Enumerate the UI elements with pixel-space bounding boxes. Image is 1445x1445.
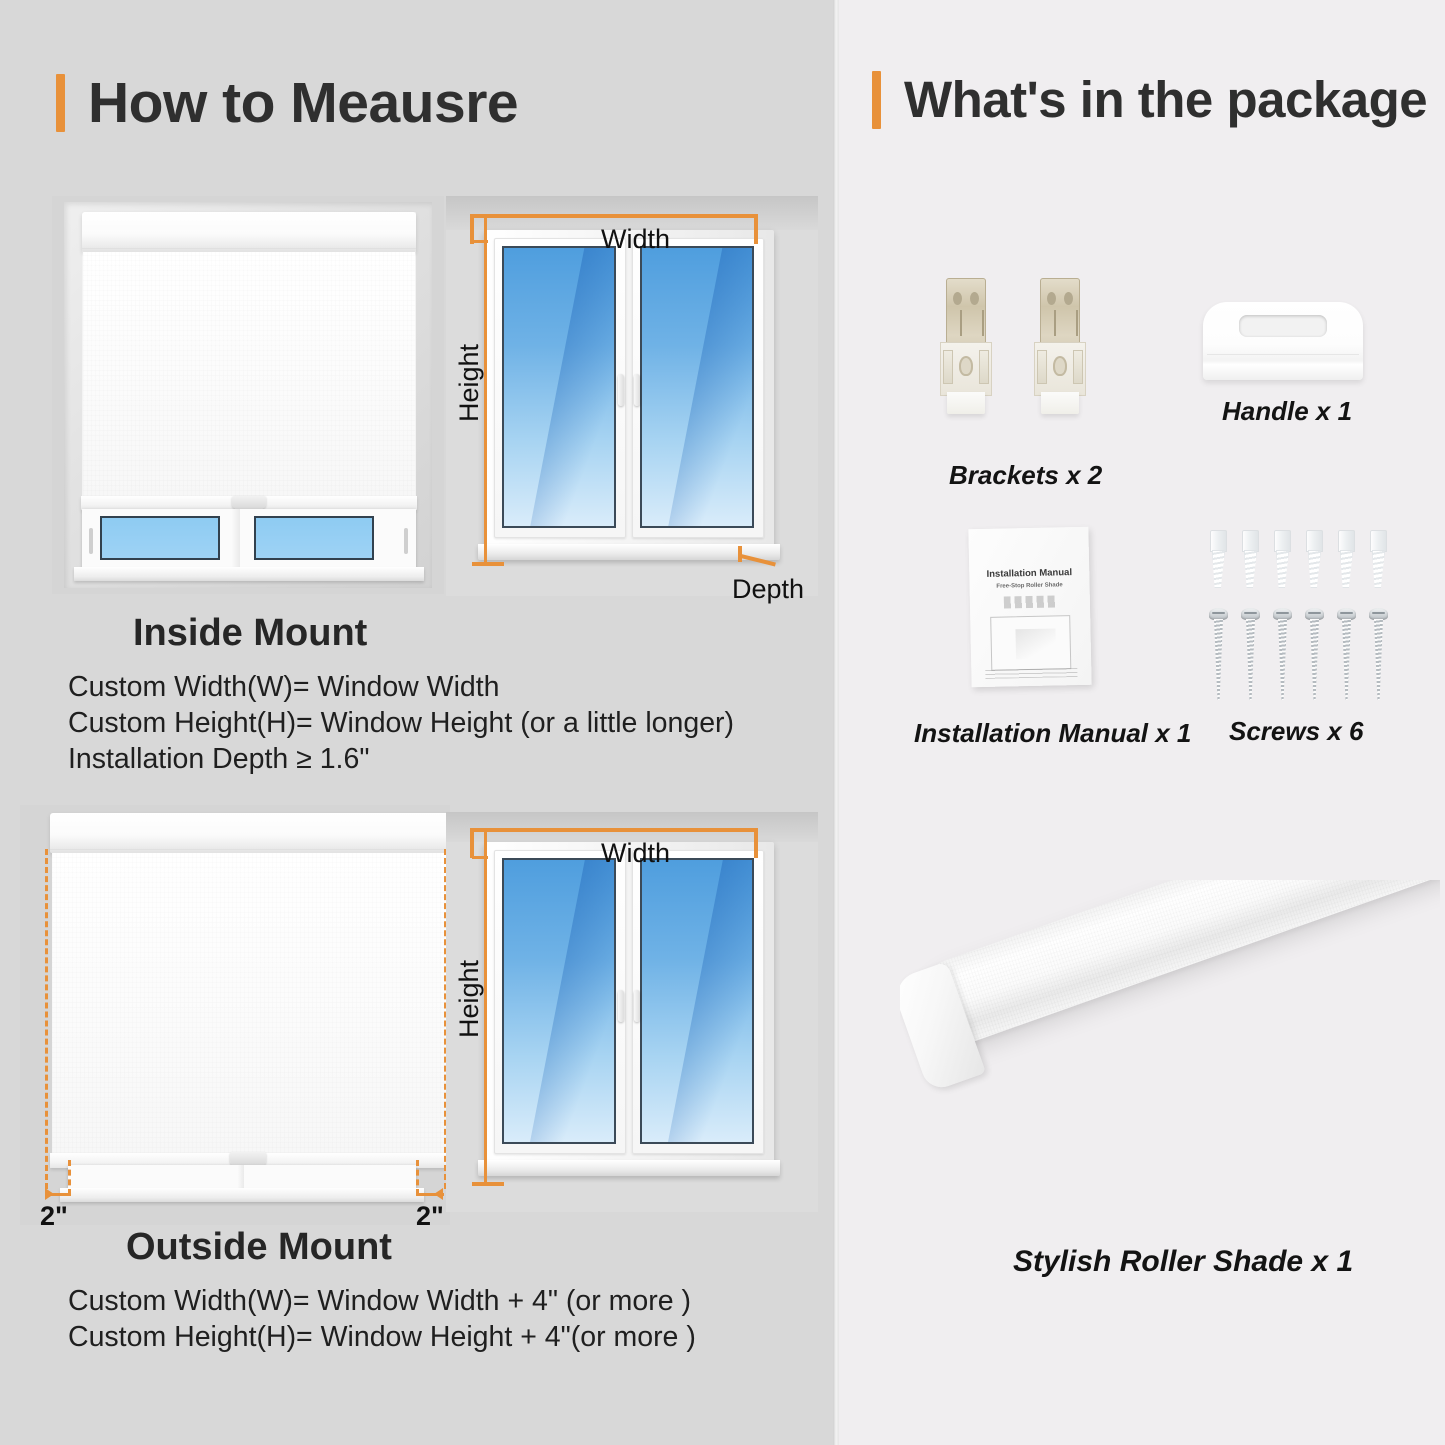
accent-bar-icon (872, 71, 881, 129)
shade-pull-tab (230, 1152, 266, 1166)
shade-pull-tab (232, 496, 266, 509)
shade-fabric (52, 853, 448, 1153)
inside-mount-illustration (52, 196, 444, 594)
inside-mount-window-diagram: Width Height Depth (446, 196, 818, 596)
window-handle-right (634, 990, 640, 1022)
window-glass-left (502, 246, 616, 528)
height-tick-bottom (472, 562, 504, 566)
window-hinge-right (404, 528, 408, 554)
screw-shaft (1278, 619, 1287, 700)
anchor-body (1244, 550, 1257, 588)
outside-mount-title: Outside Mount (126, 1226, 392, 1269)
wall-anchor-icon-2 (1242, 530, 1259, 588)
window-sill (74, 567, 424, 581)
screw-shaft (1374, 619, 1383, 700)
window-glass-left (502, 858, 616, 1144)
handle-label: Handle x 1 (1222, 396, 1352, 427)
window-edge-guide-left (68, 1160, 71, 1195)
screws-label: Screws x 6 (1229, 716, 1363, 747)
anchor-head (1306, 530, 1323, 552)
window-mullion (232, 509, 240, 571)
window-hinge-left (89, 528, 93, 554)
screw-head (1369, 608, 1388, 620)
inside-mount-line-3: Installation Depth ≥ 1.6" (68, 742, 369, 778)
window-glass-right (640, 858, 754, 1144)
window-sill (478, 544, 780, 560)
anchor-body (1276, 550, 1289, 588)
screw-icon-2 (1241, 608, 1260, 700)
anchor-body (1212, 550, 1225, 588)
handle-icon (1203, 302, 1363, 380)
how-to-measure-title: How to Meausre (88, 70, 518, 136)
width-label: Width (601, 838, 670, 869)
anchor-body (1308, 550, 1321, 588)
overhang-guide-left (45, 849, 48, 1189)
glass-sheen (660, 246, 754, 528)
bracket-tab-left (1037, 350, 1047, 384)
bracket-tab-right (1073, 350, 1083, 384)
width-measure-line (470, 828, 758, 832)
outside-mount-line-1: Custom Width(W)= Window Width + 4" (or m… (68, 1284, 691, 1320)
manual-cover-title: Installation Manual (969, 567, 1089, 581)
screw-head (1337, 608, 1356, 620)
manual-cover-marks (1004, 595, 1056, 608)
glass-sheen (659, 858, 754, 1144)
height-label: Height (454, 344, 485, 422)
bracket-screw-hole (1053, 356, 1067, 376)
wall-anchor-icon-6 (1370, 530, 1387, 588)
window-handle-right (634, 374, 640, 406)
width-tick-right (754, 214, 758, 244)
screw-head (1273, 608, 1292, 620)
wall-anchor-icon-4 (1306, 530, 1323, 588)
height-tick-top (472, 240, 488, 243)
anchor-head (1242, 530, 1259, 552)
height-tick-bottom (472, 1182, 504, 1186)
outside-mount-line-2: Custom Height(H)= Window Height + 4"(or … (68, 1320, 696, 1356)
shade-fabric (83, 252, 415, 496)
wall-anchor-icon-3 (1274, 530, 1291, 588)
height-tick-top (472, 856, 488, 859)
depth-tick (738, 546, 742, 562)
screw-shaft (1342, 619, 1351, 700)
screw-icon-3 (1273, 608, 1292, 700)
screw-head (1209, 608, 1228, 620)
screw-shaft (1246, 619, 1255, 700)
width-measure-line (470, 214, 758, 218)
anchor-head (1274, 530, 1291, 552)
wall-anchor-icon-1 (1210, 530, 1227, 588)
screw-icon-6 (1369, 608, 1388, 700)
height-label: Height (454, 960, 485, 1038)
width-tick-right (754, 828, 758, 858)
anchor-body (1372, 550, 1385, 588)
glass-sheen (521, 858, 616, 1144)
manual-cover-footer (985, 668, 1077, 679)
package-heading: What's in the package (872, 70, 1427, 129)
window-handle-left (618, 374, 624, 406)
roller-shade-label: Stylish Roller Shade x 1 (1013, 1245, 1353, 1279)
package-title: What's in the package (904, 70, 1427, 129)
bracket-ribs (960, 310, 984, 336)
window-sill (60, 1188, 424, 1202)
bracket-ribs (1054, 310, 1078, 336)
bracket-tab-left (943, 350, 953, 384)
window-glass-right (254, 516, 374, 560)
inside-mount-line-2: Custom Height(H)= Window Height (or a li… (68, 706, 734, 742)
roller-shade-texture (906, 880, 1440, 1056)
screw-icon-4 (1305, 608, 1324, 700)
anchor-head (1210, 530, 1227, 552)
window-sill (478, 1160, 780, 1176)
manual-cover-subtitle: Free-Stop Roller Shade (970, 582, 1090, 591)
bracket-icon-1 (940, 278, 992, 418)
bracket-tab-right (979, 350, 989, 384)
anchor-head (1370, 530, 1387, 552)
glass-sheen (522, 246, 616, 528)
inside-mount-title: Inside Mount (133, 612, 367, 655)
bracket-foot (1041, 392, 1079, 414)
window-handle-left (618, 990, 624, 1022)
screw-icon-5 (1337, 608, 1356, 700)
overhang-arrow-left (45, 1188, 54, 1200)
accent-bar-icon (56, 74, 65, 132)
roller-shade-icon (900, 880, 1440, 1210)
handle-slot (1239, 315, 1327, 337)
installation-manual-icon: Installation Manual Free-Stop Roller Sha… (968, 527, 1091, 687)
roller-headrail (50, 813, 450, 853)
bracket-screw-hole (959, 356, 973, 376)
overhang-arrow-right (434, 1188, 443, 1200)
width-label: Width (601, 224, 670, 255)
window-glass-right (640, 246, 754, 528)
wall-anchor-icon-5 (1338, 530, 1355, 588)
inside-mount-line-1: Custom Width(W)= Window Width (68, 670, 500, 706)
overhang-label-right: 2" (416, 1201, 444, 1232)
roller-headrail (82, 212, 416, 252)
depth-label: Depth (732, 574, 804, 605)
outside-mount-window-diagram: Width Height (446, 812, 818, 1212)
screw-head (1241, 608, 1260, 620)
brackets-label: Brackets x 2 (949, 460, 1102, 491)
bracket-icon-2 (1034, 278, 1086, 418)
outside-mount-illustration: 2" 2" (20, 805, 450, 1225)
window-glass-left (100, 516, 220, 560)
manual-cover-illustration (990, 615, 1071, 671)
installation-manual-label: Installation Manual x 1 (914, 718, 1191, 749)
bracket-foot (947, 392, 985, 414)
anchor-body (1340, 550, 1353, 588)
how-to-measure-heading: How to Meausre (56, 70, 518, 136)
screw-shaft (1214, 619, 1223, 700)
width-tick-left (470, 828, 474, 858)
window-edge-guide-right (416, 1160, 419, 1195)
anchor-head (1338, 530, 1355, 552)
screw-head (1305, 608, 1324, 620)
screw-icon-1 (1209, 608, 1228, 700)
screw-shaft (1310, 619, 1319, 700)
infographic-page: How to Meausre What's in the package (0, 0, 1445, 1445)
roller-shade-tube (906, 880, 1440, 1056)
overhang-label-left: 2" (40, 1201, 68, 1232)
